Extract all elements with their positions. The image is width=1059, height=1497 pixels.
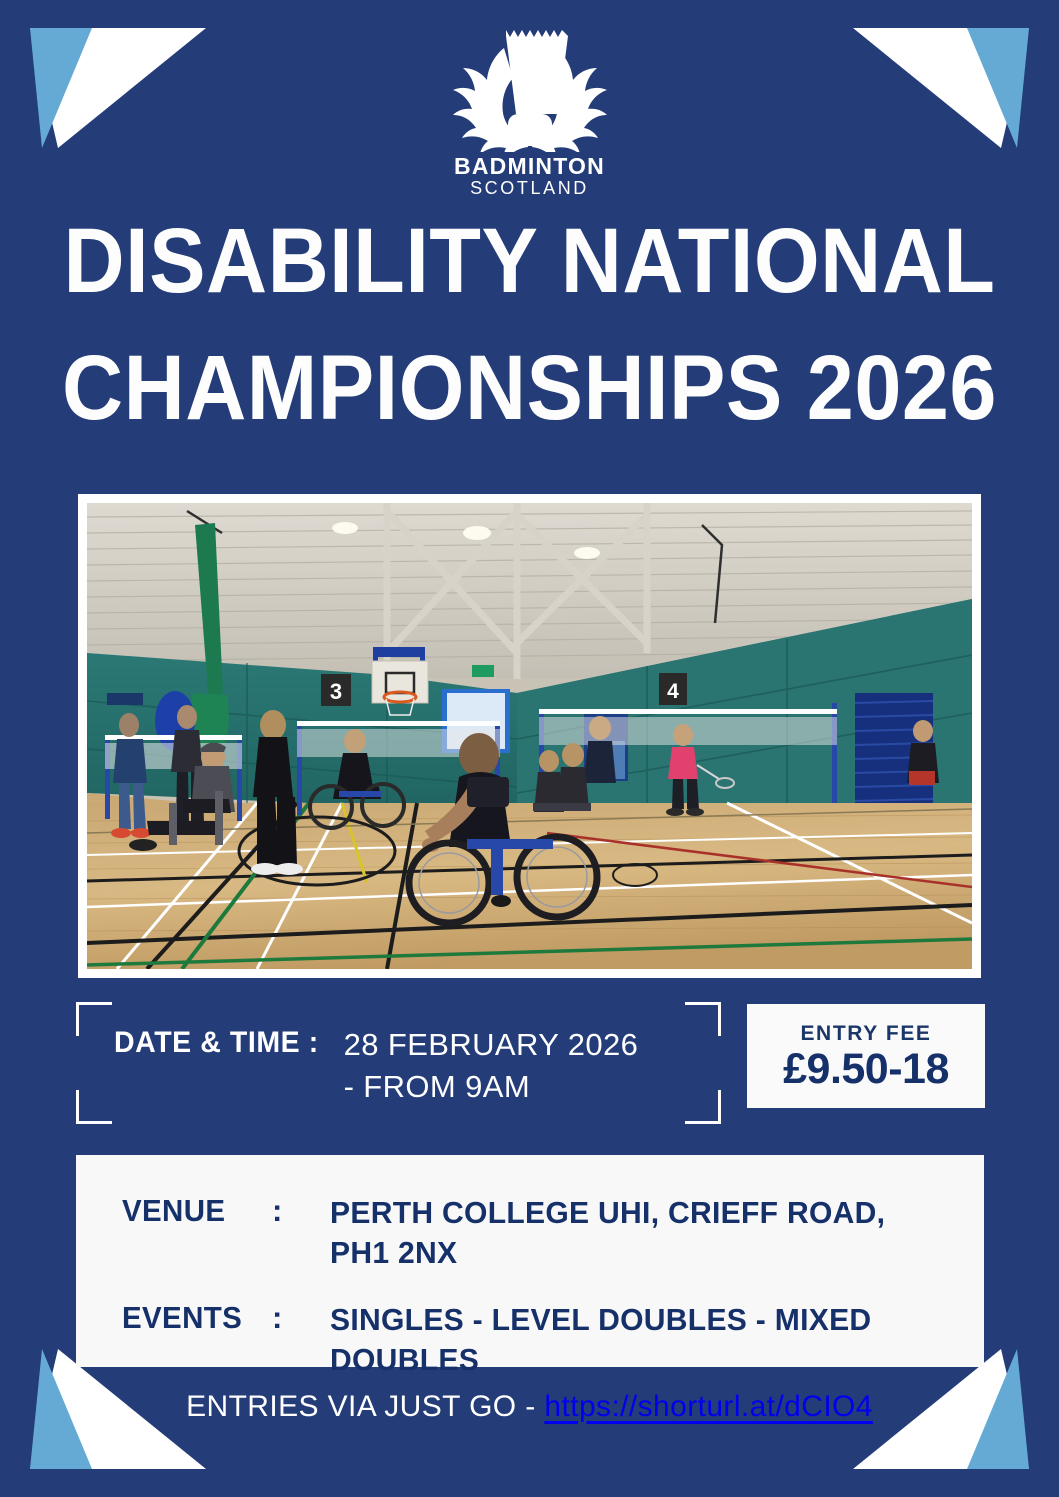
bracket-top-right [685, 1002, 721, 1036]
detail-row-events: EVENTS : SINGLES - LEVEL DOUBLES - MIXED… [122, 1300, 984, 1379]
page-title: DISABILITY NATIONAL CHAMPIONSHIPS 2026 [42, 198, 1016, 452]
date-time-block: DATE & TIME : 28 FEBRUARY 2026 - FROM 9A… [76, 1002, 721, 1124]
logo-subtitle: SCOTLAND [454, 178, 605, 199]
event-photo-frame: 3 4 [78, 494, 981, 978]
venue-colon: : [272, 1193, 330, 1229]
title-line-1: DISABILITY NATIONAL [42, 198, 1016, 325]
logo-name: BADMINTON [454, 154, 605, 178]
detail-row-venue: VENUE : PERTH COLLEGE UHI, CRIEFF ROAD, … [122, 1193, 984, 1272]
badminton-scotland-logo: BADMINTON SCOTLAND [0, 22, 1059, 199]
venue-value: PERTH COLLEGE UHI, CRIEFF ROAD, PH1 2NX [330, 1193, 902, 1272]
event-details-box: VENUE : PERTH COLLEGE UHI, CRIEFF ROAD, … [76, 1155, 984, 1367]
entry-fee-label: ENTRY FEE [800, 1022, 931, 1046]
events-colon: : [272, 1300, 330, 1336]
date-time-value: 28 FEBRUARY 2026 - FROM 9AM [344, 1024, 639, 1108]
events-value: SINGLES - LEVEL DOUBLES - MIXED DOUBLES [330, 1300, 902, 1379]
entries-footer: ENTRIES VIA JUST GO - https://shorturl.a… [0, 1390, 1059, 1424]
wheelchair-badminton-photo: 3 4 [87, 503, 972, 969]
poster-root: BADMINTON SCOTLAND DISABILITY NATIONAL C… [0, 0, 1059, 1497]
bracket-top-left [76, 1002, 112, 1036]
shuttlecock-thistle-icon [450, 22, 610, 152]
entries-prefix: ENTRIES VIA JUST GO - [186, 1390, 544, 1423]
entry-fee-amount: £9.50-18 [783, 1048, 949, 1091]
bracket-bottom-right [685, 1090, 721, 1124]
svg-text:3: 3 [330, 679, 342, 704]
events-label: EVENTS [122, 1300, 265, 1336]
bracket-bottom-left [76, 1090, 112, 1124]
logo-wordmark: BADMINTON SCOTLAND [454, 154, 605, 199]
entries-url-link[interactable]: https://shorturl.at/dCIO4 [544, 1390, 872, 1423]
venue-label: VENUE [122, 1193, 265, 1229]
entry-fee-box: ENTRY FEE £9.50-18 [747, 1004, 985, 1108]
date-time-label: DATE & TIME : [114, 1024, 319, 1108]
title-line-2: CHAMPIONSHIPS 2026 [42, 325, 1016, 452]
svg-text:4: 4 [667, 680, 679, 703]
